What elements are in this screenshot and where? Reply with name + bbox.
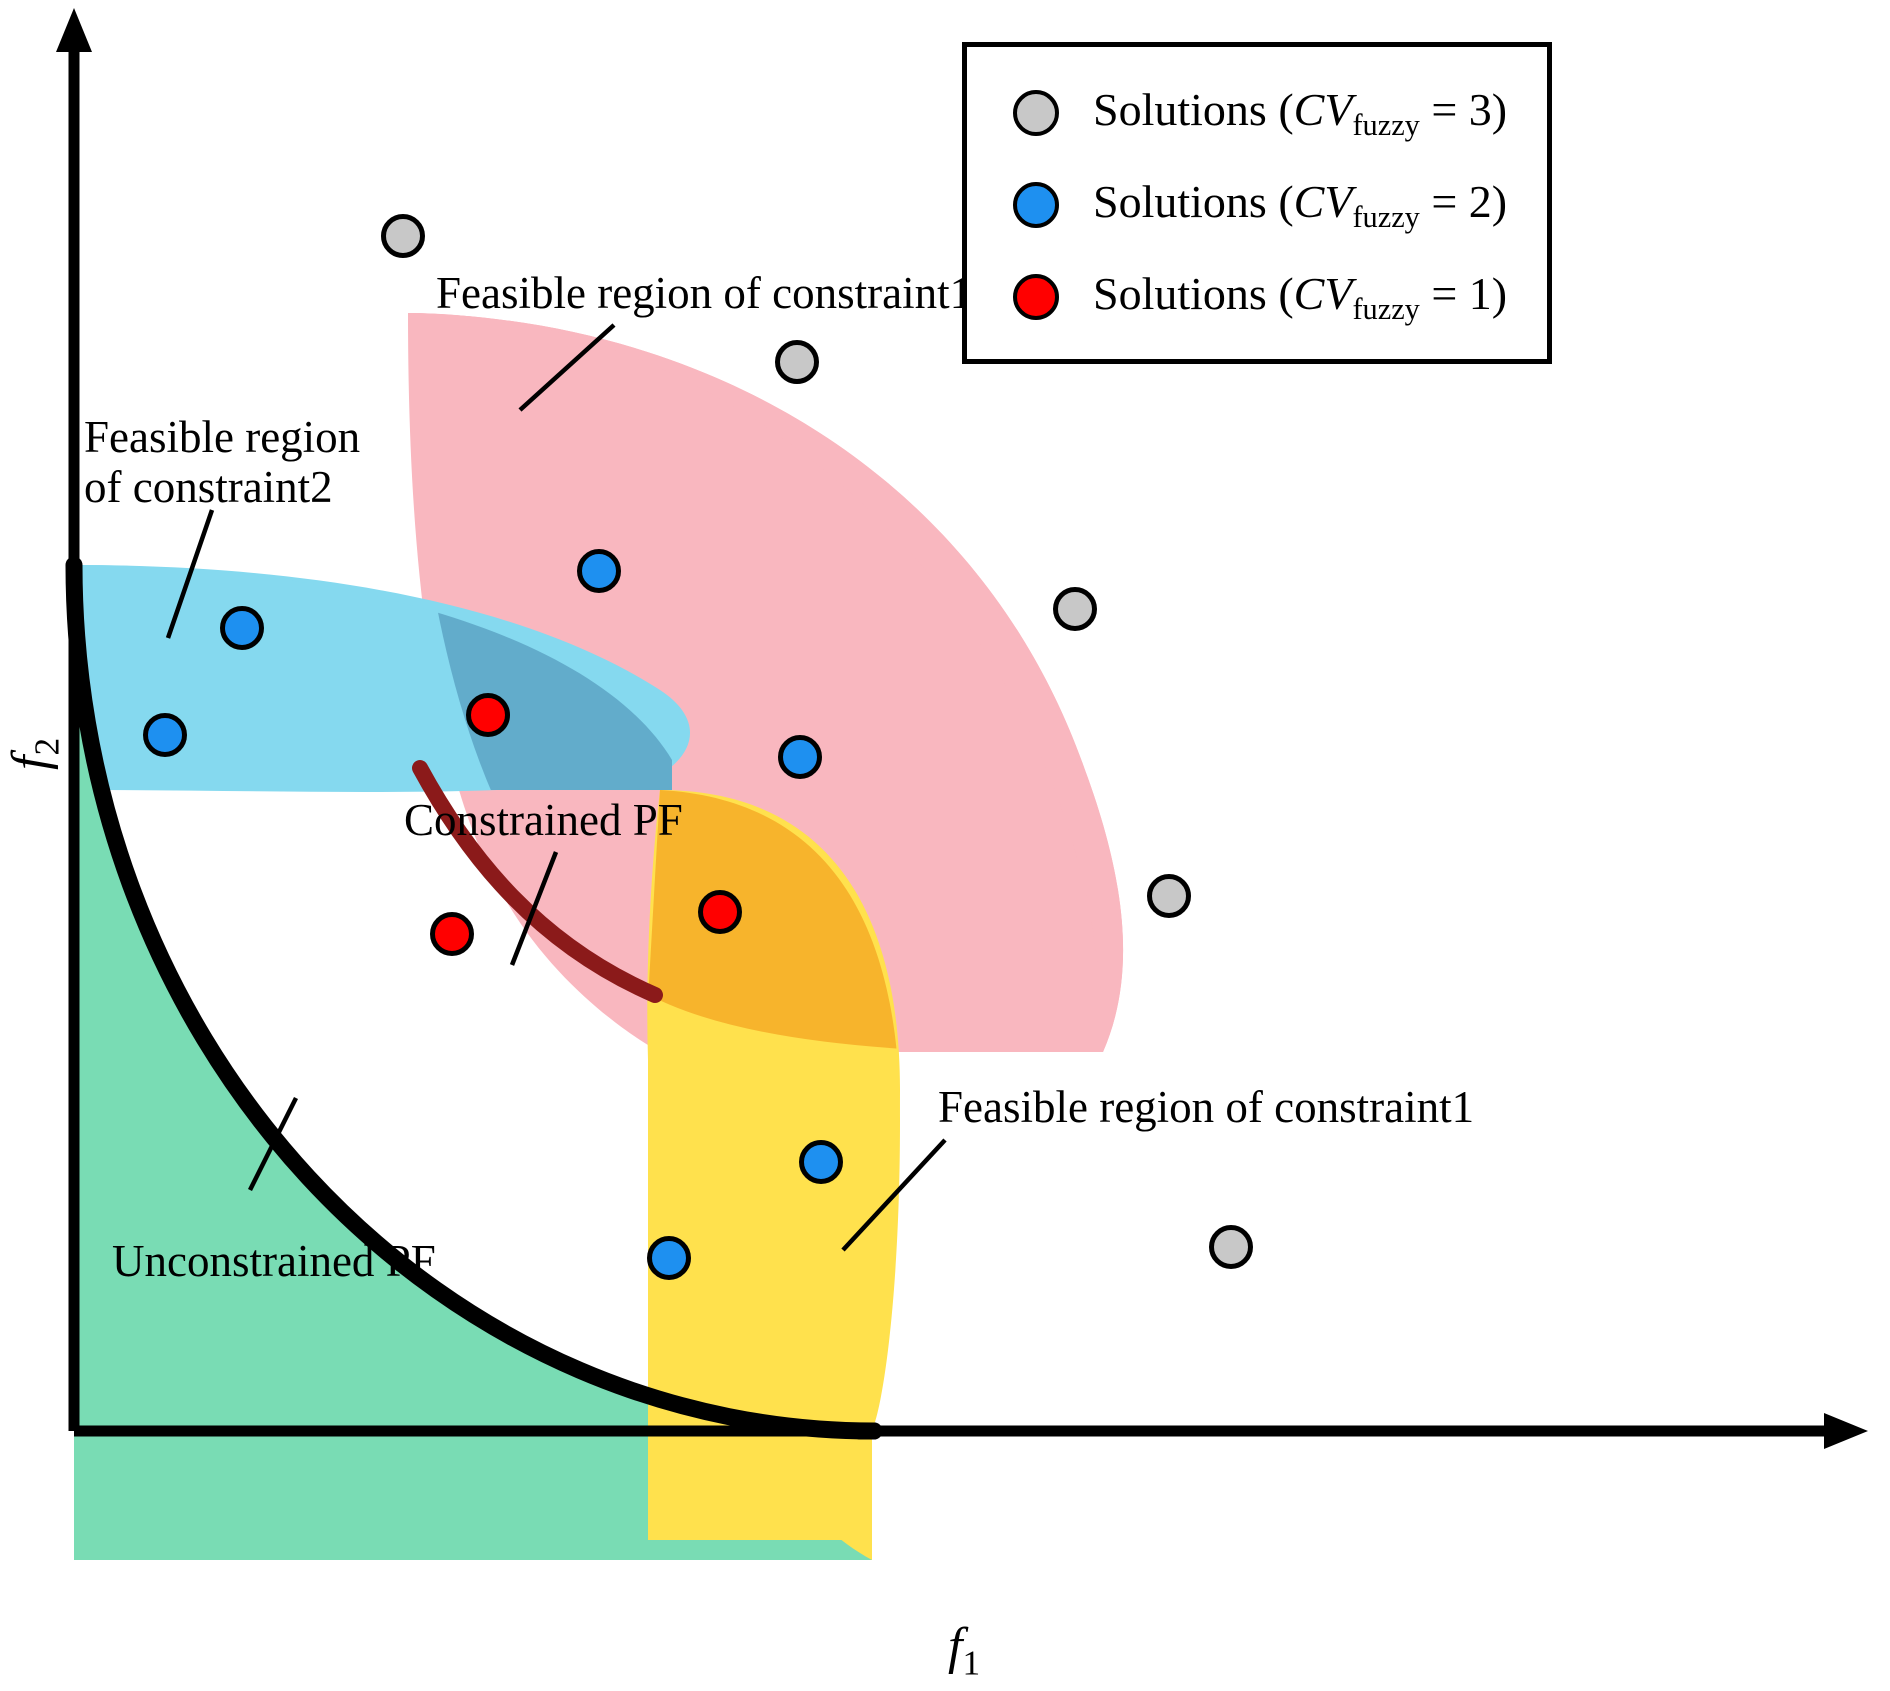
solution-point-red[interactable] [698,890,742,934]
y-axis-label-text: f [2,756,59,770]
y-axis-arrow [56,8,92,52]
solution-point-gray[interactable] [1053,587,1097,631]
legend-prefix: Solutions ( [1093,84,1294,135]
x-axis-label-sub: 1 [962,1642,980,1682]
legend-item-cv-fuzzy-2[interactable]: Solutions (CVfuzzy = 2) [967,159,1547,251]
solution-point-gray[interactable] [1147,874,1191,918]
solution-point-red[interactable] [430,912,474,956]
legend-symbol-sub: fuzzy [1352,292,1419,326]
legend: Solutions (CVfuzzy = 3) Solutions (CVfuz… [962,42,1552,364]
legend-marker-blue [1013,182,1059,228]
legend-relation: = 1) [1420,268,1507,319]
solution-point-blue[interactable] [799,1140,843,1184]
solution-point-blue[interactable] [647,1236,691,1280]
legend-symbol-sub: fuzzy [1352,108,1419,142]
legend-prefix: Solutions ( [1093,268,1294,319]
y-axis-label: f2 [2,738,67,770]
x-axis-label: f1 [948,1618,980,1683]
solution-point-gray[interactable] [381,214,425,258]
legend-symbol: CV [1294,84,1353,135]
legend-marker-red [1013,274,1059,320]
legend-symbol-sub: fuzzy [1352,200,1419,234]
annotation-feasible-constraint2: Feasible region of constraint2 [84,412,360,513]
legend-relation: = 3) [1420,84,1507,135]
legend-relation: = 2) [1420,176,1507,227]
solution-point-blue[interactable] [778,735,822,779]
x-axis-arrow [1824,1413,1868,1449]
figure-canvas: Feasible region of constraint1 Feasible … [0,0,1890,1691]
legend-label-cv-fuzzy-3: Solutions (CVfuzzy = 3) [1093,83,1507,143]
diagram-graphics [0,0,1890,1691]
annotation-unconstrained-pf: Unconstrained PF [112,1236,436,1286]
x-axis-label-text: f [948,1618,962,1675]
annotation-constrained-pf: Constrained PF [404,795,683,845]
legend-label-cv-fuzzy-1: Solutions (CVfuzzy = 1) [1093,267,1507,327]
solution-point-blue[interactable] [577,549,621,593]
legend-item-cv-fuzzy-1[interactable]: Solutions (CVfuzzy = 1) [967,251,1547,343]
solution-point-blue[interactable] [220,606,264,650]
y-axis-label-sub: 2 [26,738,66,756]
legend-label-cv-fuzzy-2: Solutions (CVfuzzy = 2) [1093,175,1507,235]
solution-point-red[interactable] [466,693,510,737]
solution-point-blue[interactable] [143,713,187,757]
legend-symbol: CV [1294,176,1353,227]
legend-marker-gray [1013,90,1059,136]
solution-point-gray[interactable] [775,340,819,384]
legend-symbol: CV [1294,268,1353,319]
solution-point-gray[interactable] [1209,1225,1253,1269]
annotation-feasible-constraint1-top: Feasible region of constraint1 [436,268,972,318]
annotation-feasible-constraint1-bottom: Feasible region of constraint1 [938,1082,1474,1132]
legend-item-cv-fuzzy-3[interactable]: Solutions (CVfuzzy = 3) [967,67,1547,159]
legend-prefix: Solutions ( [1093,176,1294,227]
